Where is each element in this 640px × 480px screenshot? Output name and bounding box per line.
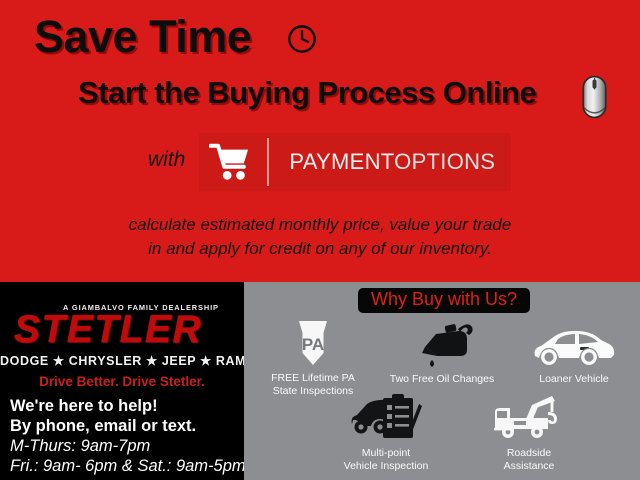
shopping-cart-icon (209, 142, 251, 182)
contact-line: Fri.: 9am- 6pm & Sat.: 9am-5pm (10, 456, 246, 476)
pa-keystone-icon: PA (287, 317, 339, 369)
clipboard-car-icon (349, 392, 423, 444)
contact-line: By phone, email or text. (10, 416, 246, 436)
why-buy-title: Why Buy with Us? (358, 288, 530, 313)
feature-oil-changes: Two Free Oil Changes (372, 320, 512, 386)
feature-label: Two Free Oil Changes (372, 373, 512, 386)
car-icon-wrap (512, 320, 636, 370)
car-icon (531, 326, 617, 370)
dealership-promo-banner: Save Time Start the Buying Process Onlin… (0, 0, 640, 480)
feature-label: Multi-point Vehicle Inspection (312, 447, 460, 473)
why-buy-panel: Why Buy with Us? PA FREE Lifetime PA Sta… (244, 282, 640, 480)
contact-line: M-Thurs: 9am-7pm (10, 436, 246, 456)
payment-options-wordmark: PAYMENTOPTIONS (289, 149, 495, 175)
lockup-divider (267, 138, 269, 186)
with-label: with (148, 148, 185, 176)
dealer-contact-block: We're here to help! By phone, email or t… (10, 396, 246, 476)
feature-label: Loaner Vehicle (512, 373, 636, 386)
dealer-logo-tagline: A GIAMBALVO FAMILY DEALERSHIP (63, 303, 219, 312)
oil-can-icon (411, 320, 473, 370)
tow-truck-icon (492, 394, 566, 444)
promo-subtext: calculate estimated monthly price, value… (0, 213, 640, 261)
feature-multipoint-inspection: Multi-point Vehicle Inspection (312, 392, 460, 473)
feature-loaner-vehicle: Loaner Vehicle (512, 320, 636, 386)
promo-panel: Save Time Start the Buying Process Onlin… (0, 0, 640, 282)
feature-roadside-assistance: Roadside Assistance (466, 394, 592, 473)
clipboard-car-icon-wrap (312, 392, 460, 444)
clock-icon (287, 24, 317, 54)
dealer-panel: STETLER A GIAMBALVO FAMILY DEALERSHIP DO… (0, 282, 244, 480)
payment-options-lockup: with PAYMENTOPTIONS (148, 133, 511, 191)
contact-line: We're here to help! (10, 396, 246, 416)
promo-headline-secondary: Start the Buying Process Online (78, 76, 536, 110)
dealer-logo-name: STETLER (14, 308, 202, 352)
promo-headline-primary: Save Time (34, 13, 251, 61)
tow-truck-icon-wrap (466, 394, 592, 444)
svg-text:PA: PA (302, 335, 324, 354)
pa-keystone-icon-wrap: PA (254, 317, 372, 369)
feature-pa-inspections: PA FREE Lifetime PA State Inspections (254, 317, 372, 398)
brand-options-text: OPTIONS (394, 149, 495, 174)
dealer-brand-list: DODGE ★ CHRYSLER ★ JEEP ★ RAM (0, 353, 244, 368)
feature-label: Roadside Assistance (466, 447, 592, 473)
oil-can-icon-wrap (372, 320, 512, 370)
dealer-slogan: Drive Better. Drive Stetler. (0, 374, 244, 389)
payment-options-plate: PAYMENTOPTIONS (199, 133, 511, 191)
brand-payment-text: PAYMENT (289, 149, 394, 174)
computer-mouse-icon (582, 75, 607, 119)
